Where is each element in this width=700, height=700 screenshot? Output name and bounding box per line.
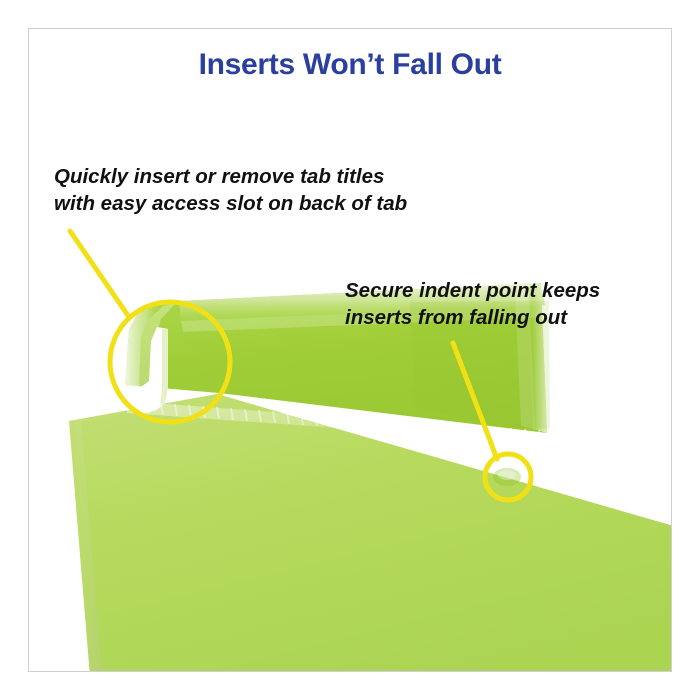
- product-feature-graphic: Inserts Won’t Fall Out Quickly insert or…: [0, 0, 700, 700]
- product-photo: [29, 29, 671, 671]
- divider-bottom-shadow: [91, 669, 671, 671]
- secure-indent-point: [493, 468, 521, 486]
- annotation-indent-point: Secure indent point keeps inserts from f…: [345, 277, 665, 331]
- product-photo-illustration: [29, 29, 671, 671]
- divider-body: [69, 394, 671, 671]
- annotation-access-slot: Quickly insert or remove tab titles with…: [54, 163, 494, 217]
- page-title: Inserts Won’t Fall Out: [28, 48, 672, 82]
- indent-point-highlight: [498, 470, 516, 480]
- divider-body-face: [69, 394, 671, 671]
